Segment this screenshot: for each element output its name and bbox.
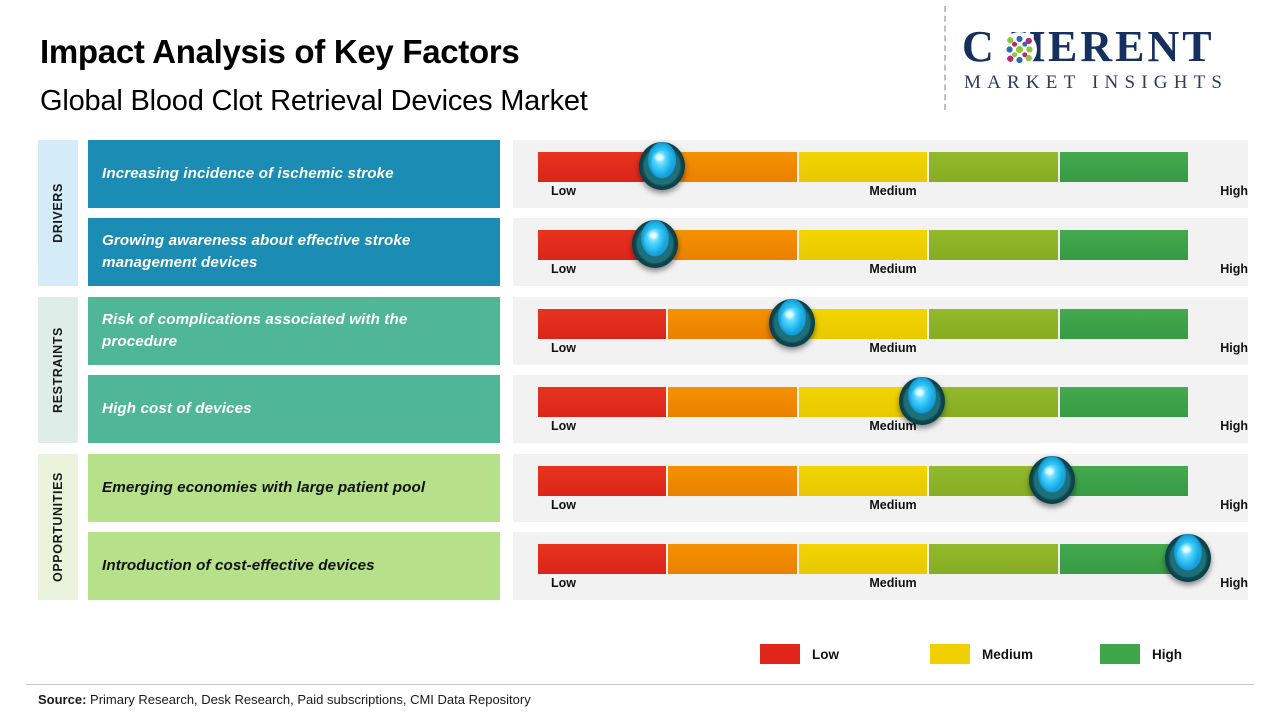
header: Impact Analysis of Key Factors Global Bl… (0, 0, 1280, 130)
impact-gauge: LowMediumHigh (513, 454, 1248, 522)
impact-marker[interactable] (632, 220, 678, 268)
gauge-segment-4 (929, 387, 1057, 417)
factor-label: High cost of devices (102, 398, 252, 420)
gauge-label-medium: Medium (869, 184, 916, 198)
factor-box[interactable]: Increasing incidence of ischemic stroke (88, 140, 500, 208)
gauge-label-high: High (1220, 341, 1248, 355)
gauge-segment-5 (1060, 309, 1188, 339)
gauge-scale-labels: LowMediumHigh (538, 498, 1248, 516)
gauge-segment-2 (668, 544, 796, 574)
category-label-text: OPPORTUNITIES (51, 472, 65, 582)
gauge-segment-3 (799, 152, 927, 182)
gauge-label-low: Low (551, 498, 576, 512)
category-label-restraints: RESTRAINTS (38, 297, 78, 443)
gauge-segment-2 (668, 152, 796, 182)
gauge-label-medium: Medium (869, 498, 916, 512)
impact-marker[interactable] (769, 299, 815, 347)
legend-swatch (1100, 644, 1140, 664)
slide-canvas: Impact Analysis of Key Factors Global Bl… (0, 0, 1280, 720)
gauge-scale-labels: LowMediumHigh (538, 184, 1248, 202)
gauge-segment-5 (1060, 152, 1188, 182)
gauge-label-low: Low (551, 576, 576, 590)
gauge-label-low: Low (551, 419, 576, 433)
impact-marker[interactable] (1029, 456, 1075, 504)
impact-gauge: LowMediumHigh (513, 375, 1248, 443)
footer-divider (26, 684, 1254, 685)
impact-marker[interactable] (639, 142, 685, 190)
legend-swatch (760, 644, 800, 664)
gauge-segment-3 (799, 309, 927, 339)
factor-label: Risk of complications associated with th… (102, 309, 486, 353)
gauge-segment-5 (1060, 230, 1188, 260)
category-label-opportunities: OPPORTUNITIES (38, 454, 78, 600)
page-subtitle: Global Blood Clot Retrieval Devices Mark… (40, 85, 588, 118)
source-label: Source: (38, 692, 86, 707)
gauge-segment-3 (799, 544, 927, 574)
gauge-label-high: High (1220, 576, 1248, 590)
factor-label: Growing awareness about effective stroke… (102, 230, 486, 274)
gauge-segment-1 (538, 544, 666, 574)
gauge-segment-4 (929, 152, 1057, 182)
category-label-drivers: DRIVERS (38, 140, 78, 286)
logo-wordmark: C HERENT (962, 22, 1215, 72)
page-title: Impact Analysis of Key Factors (40, 33, 519, 71)
legend-label: Medium (982, 647, 1033, 662)
legend-item: Low (760, 644, 839, 664)
gauge-segment-5 (1060, 387, 1188, 417)
factor-box[interactable]: Emerging economies with large patient po… (88, 454, 500, 522)
legend: LowMediumHigh (760, 644, 1180, 670)
category-label-text: RESTRAINTS (51, 327, 65, 413)
impact-gauge: LowMediumHigh (513, 297, 1248, 365)
legend-item: High (1100, 644, 1182, 664)
gauge-segment-4 (929, 230, 1057, 260)
gauge-segment-1 (538, 387, 666, 417)
legend-label: High (1152, 647, 1182, 662)
gauge-scale-labels: LowMediumHigh (538, 419, 1248, 437)
gauge-segment-5 (1060, 466, 1188, 496)
legend-item: Medium (930, 644, 1033, 664)
gauge-scale-labels: LowMediumHigh (538, 341, 1248, 359)
gauge-segment-3 (799, 230, 927, 260)
gauge-label-low: Low (551, 262, 576, 276)
gauge-label-low: Low (551, 184, 576, 198)
brand-logo: C HERENT MARKET INSIGHTS (962, 22, 1262, 104)
gauge-segment-2 (668, 387, 796, 417)
gauge-segment-4 (929, 544, 1057, 574)
gauge-segment-4 (929, 309, 1057, 339)
gauge-segment-2 (668, 466, 796, 496)
gauge-segment-2 (668, 230, 796, 260)
gauge-bar (538, 152, 1188, 182)
factor-box[interactable]: Introduction of cost-effective devices (88, 532, 500, 600)
gauge-bar (538, 466, 1188, 496)
factor-label: Introduction of cost-effective devices (102, 555, 375, 577)
source-text: Primary Research, Desk Research, Paid su… (86, 692, 530, 707)
gauge-scale-labels: LowMediumHigh (538, 576, 1248, 594)
gauge-label-medium: Medium (869, 262, 916, 276)
impact-gauge: LowMediumHigh (513, 140, 1248, 208)
legend-label: Low (812, 647, 839, 662)
globe-dots-icon (1003, 33, 1036, 66)
impact-matrix: DRIVERSRESTRAINTSOPPORTUNITIESIncreasing… (0, 140, 1280, 610)
gauge-label-high: High (1220, 419, 1248, 433)
gauge-label-medium: Medium (869, 576, 916, 590)
factor-box[interactable]: High cost of devices (88, 375, 500, 443)
gauge-segment-3 (799, 466, 927, 496)
gauge-label-medium: Medium (869, 341, 916, 355)
gauge-label-high: High (1220, 262, 1248, 276)
gauge-segment-1 (538, 466, 666, 496)
impact-marker[interactable] (1165, 534, 1211, 582)
impact-gauge: LowMediumHigh (513, 218, 1248, 286)
gauge-bar (538, 387, 1188, 417)
category-label-text: DRIVERS (51, 183, 65, 243)
gauge-bar (538, 544, 1188, 574)
impact-gauge: LowMediumHigh (513, 532, 1248, 600)
factor-label: Emerging economies with large patient po… (102, 477, 425, 499)
gauge-label-high: High (1220, 184, 1248, 198)
gauge-label-low: Low (551, 341, 576, 355)
logo-tagline: MARKET INSIGHTS (964, 72, 1228, 94)
logo-divider (944, 6, 946, 110)
factor-label: Increasing incidence of ischemic stroke (102, 163, 394, 185)
gauge-segment-1 (538, 309, 666, 339)
factor-box[interactable]: Growing awareness about effective stroke… (88, 218, 500, 286)
impact-marker[interactable] (899, 377, 945, 425)
gauge-bar (538, 309, 1188, 339)
source-note: Source: Primary Research, Desk Research,… (38, 692, 531, 707)
factor-box[interactable]: Risk of complications associated with th… (88, 297, 500, 365)
legend-swatch (930, 644, 970, 664)
gauge-label-high: High (1220, 498, 1248, 512)
